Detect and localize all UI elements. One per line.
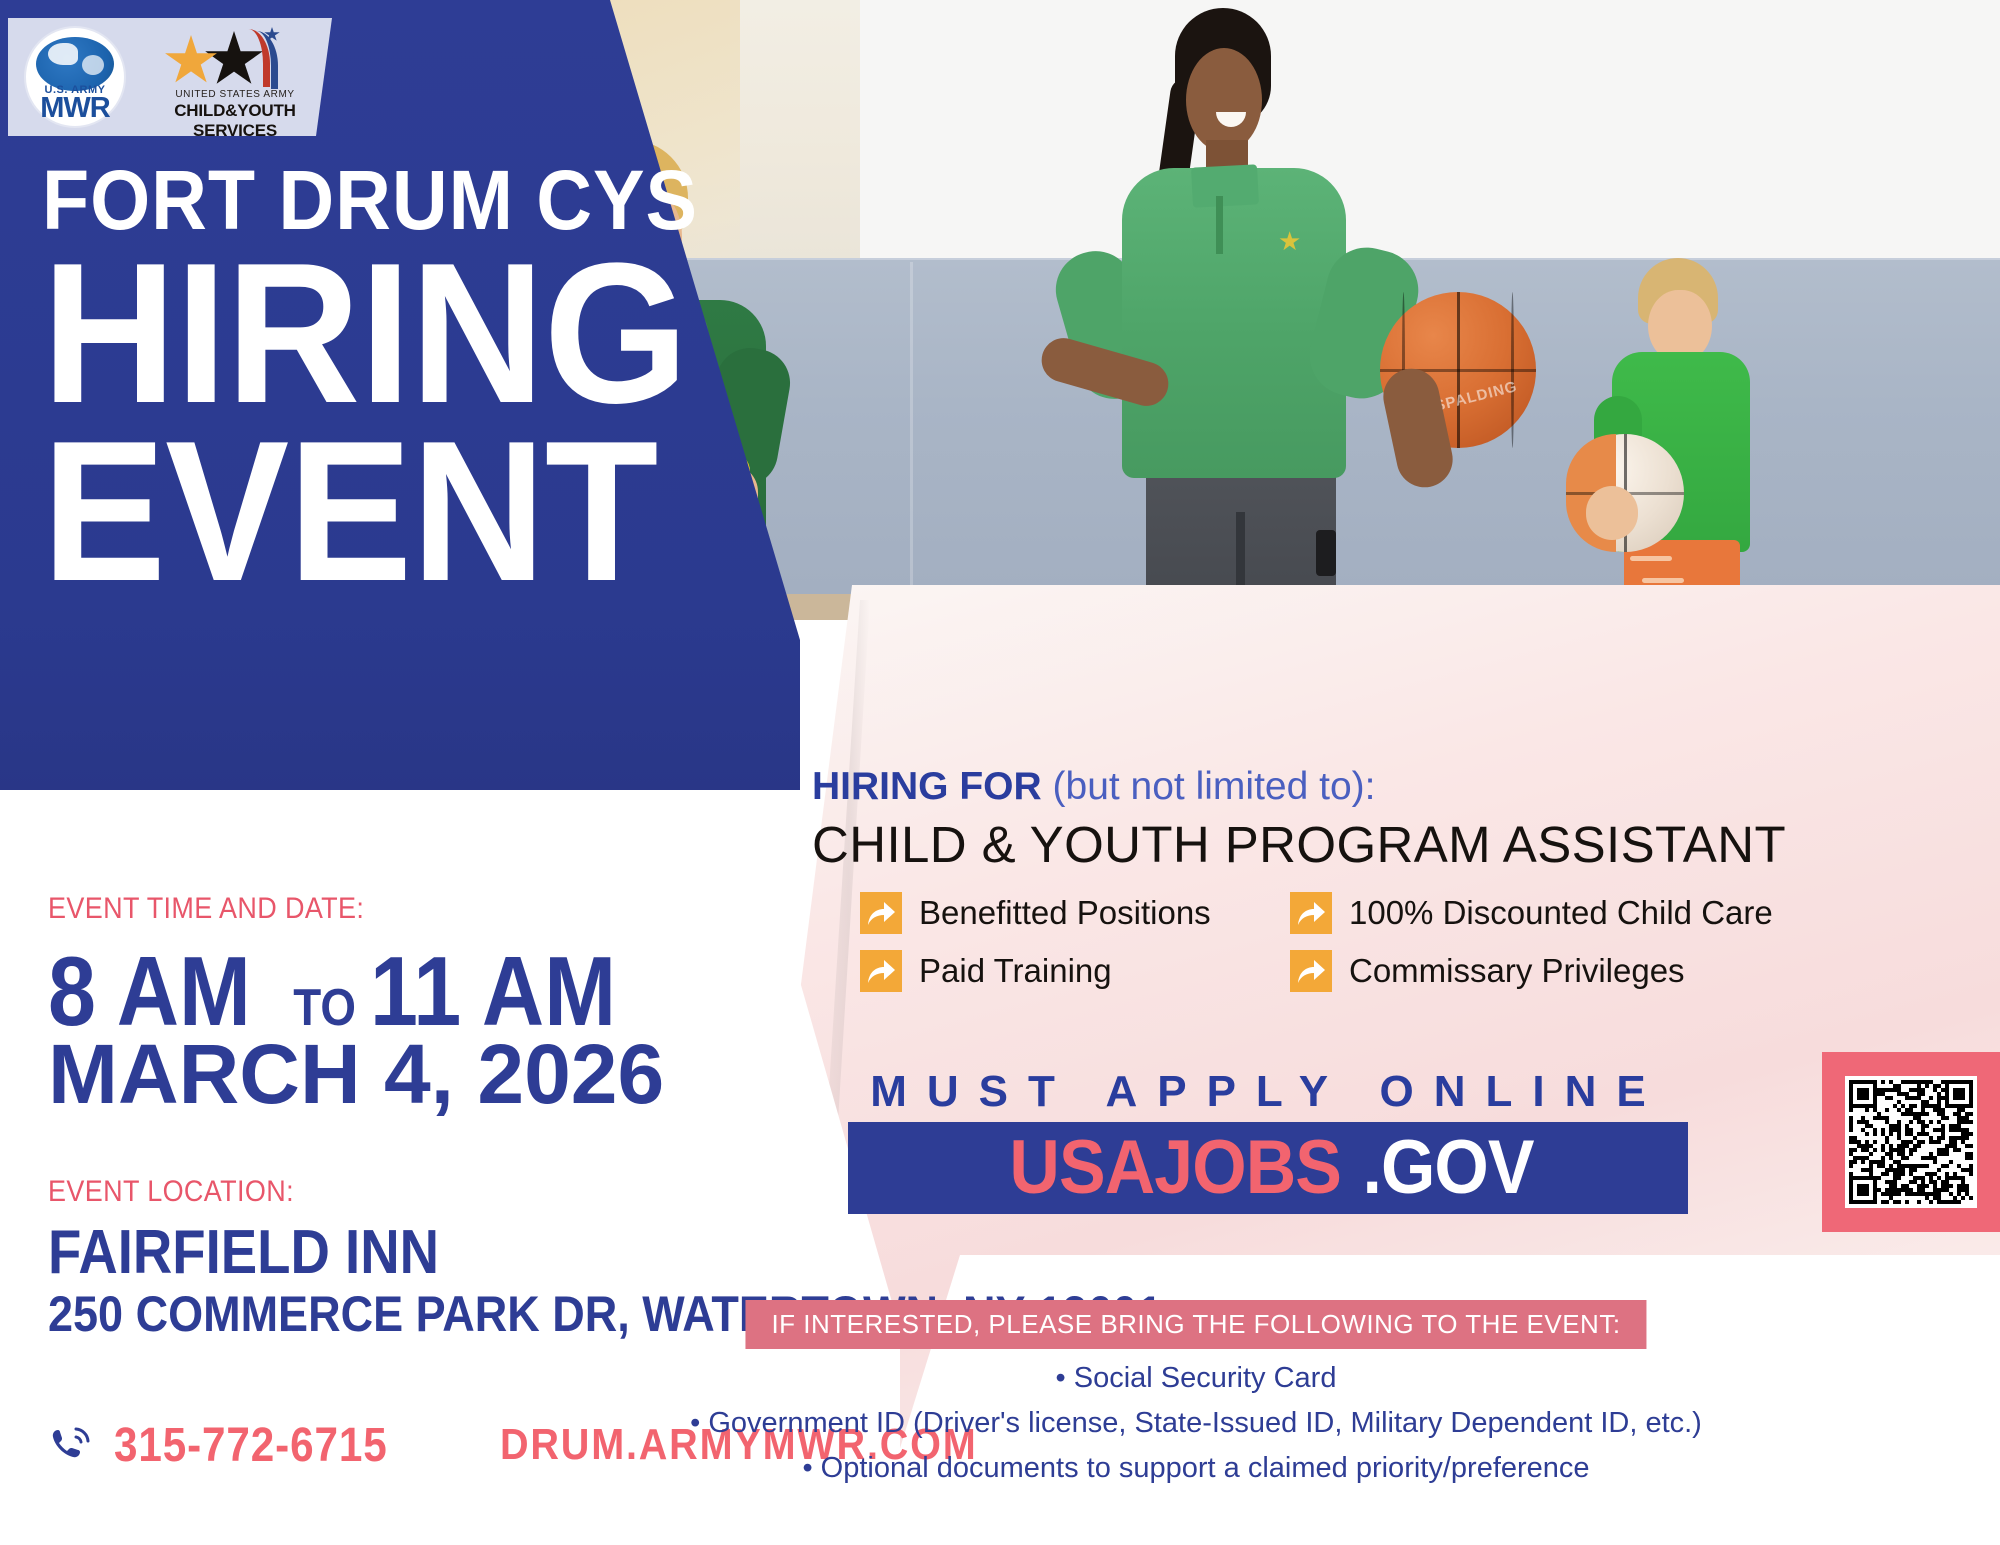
child-two-hand [1586, 486, 1638, 540]
bottom-edge [0, 1533, 2000, 1545]
benefit-item: Commissary Privileges [1290, 950, 1990, 992]
benefit-item: 100% Discounted Child Care [1290, 892, 1990, 934]
title-line-two: HIRING [42, 245, 705, 423]
benefit-label: 100% Discounted Child Care [1349, 894, 1773, 932]
usajobs-bar[interactable]: USAJOBS.GOV [848, 1122, 1688, 1214]
benefit-label: Paid Training [919, 952, 1112, 990]
usajobs-tld: .GOV [1363, 1130, 1534, 1206]
qr-code[interactable] [1845, 1076, 1977, 1208]
benefit-label: Commissary Privileges [1349, 952, 1685, 990]
apply-headline: MUST APPLY ONLINE [848, 1068, 1688, 1116]
coach-face [1186, 48, 1262, 152]
globe-icon [36, 37, 114, 91]
time-end: 11 AM [370, 942, 616, 1040]
event-location-label: EVENT LOCATION: [48, 1175, 294, 1209]
usajobs-name: USAJOBS [1009, 1130, 1341, 1206]
cys-logo-line-one: UNITED STATES ARMY [146, 89, 324, 100]
time-start: 8 AM [48, 942, 251, 1040]
bring-item: • Government ID (Driver's license, State… [606, 1401, 1786, 1446]
coach-whistle [1316, 530, 1336, 576]
event-venue: FAIRFIELD INN [48, 1222, 439, 1284]
phone-number[interactable]: 315-772-6715 [114, 1418, 388, 1473]
shorts-stripe [1642, 578, 1684, 583]
page-title: FORT DRUM CYS HIRING EVENT [42, 155, 755, 601]
child-youth-services-logo: UNITED STATES ARMY CHILD&YOUTH SERVICES [146, 27, 324, 127]
event-date-row: MARCH 4, 2026 [48, 1032, 664, 1116]
apply-online-block: MUST APPLY ONLINE USAJOBS.GOV [848, 1068, 1688, 1214]
coach-shirt-logo: ★ [1278, 228, 1304, 258]
event-time: 8 AM TO 11 AM [48, 942, 649, 1040]
bring-banner: IF INTERESTED, PLEASE BRING THE FOLLOWIN… [745, 1300, 1646, 1349]
blue-swoosh-icon [242, 31, 278, 89]
pad-seam [910, 262, 913, 620]
arrow-icon [860, 950, 902, 992]
job-title: CHILD & YOUTH PROGRAM ASSISTANT [812, 816, 1786, 874]
benefits-list: Benefitted Positions 100% Discounted Chi… [860, 892, 1990, 992]
hiring-for-light: (but not limited to): [1053, 765, 1376, 808]
cys-logo-line-two: CHILD&YOUTH SERVICES [146, 101, 324, 141]
event-time-label: EVENT TIME AND DATE: [48, 892, 364, 926]
coach-placket [1216, 196, 1223, 254]
phone-icon [48, 1423, 94, 1469]
hiring-for-heading: HIRING FOR (but not limited to): [812, 765, 1375, 809]
us-army-mwr-logo: U.S. ARMY MWR [26, 28, 124, 126]
qr-code-container[interactable] [1822, 1052, 2000, 1232]
benefit-item: Benefitted Positions [860, 892, 1290, 934]
arrow-icon [1290, 950, 1332, 992]
bring-item: • Social Security Card [606, 1356, 1786, 1401]
arrow-icon [860, 892, 902, 934]
benefit-label: Benefitted Positions [919, 894, 1211, 932]
contact-phone-row[interactable]: 315-772-6715 [48, 1418, 425, 1473]
gym-wall-white [860, 0, 2000, 260]
bring-items-list: • Social Security Card • Government ID (… [606, 1356, 1786, 1491]
logo-bar: U.S. ARMY MWR UNITED STATES ARMY CHILD&Y… [8, 18, 332, 136]
shorts-stripe [1630, 556, 1672, 561]
arrow-icon [1290, 892, 1332, 934]
bring-item: • Optional documents to support a claime… [606, 1446, 1786, 1491]
mwr-wordmark: MWR [26, 92, 124, 125]
benefit-item: Paid Training [860, 950, 1290, 992]
coach-collar [1191, 164, 1259, 207]
gold-star-icon [164, 35, 218, 87]
title-line-three: EVENT [42, 423, 705, 601]
coach-polo-shirt [1122, 168, 1346, 478]
hiring-for-bold: HIRING FOR [812, 765, 1042, 808]
event-date: MARCH 4, 2026 [48, 1027, 664, 1121]
